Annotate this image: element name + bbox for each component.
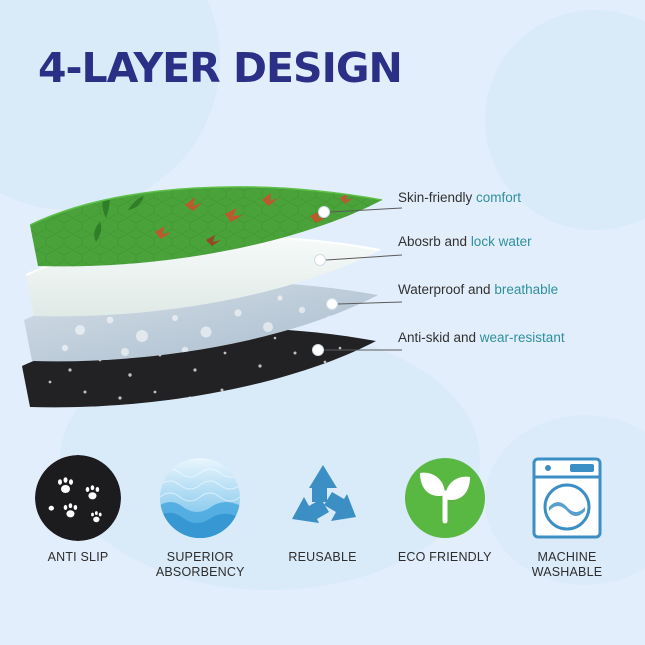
layer-callout-dot-4 — [313, 345, 324, 356]
layer-label-1: Skin-friendly comfort — [398, 190, 521, 205]
leaf-eco-icon — [402, 455, 488, 541]
layer-label-4-text: Anti-skid and — [398, 330, 480, 345]
layer-label-4: Anti-skid and wear-resistant — [398, 330, 565, 345]
layer-callout-dot-3 — [327, 299, 338, 310]
washing-machine-icon — [526, 455, 608, 541]
layer-label-1-text: Skin-friendly — [398, 190, 476, 205]
layer-label-2-highlight: lock water — [471, 234, 532, 249]
layer-callout-dot-2 — [315, 255, 326, 266]
layer-label-2-text: Abosrb and — [398, 234, 471, 249]
layer-label-2: Abosrb and lock water — [398, 234, 532, 249]
feature-icon-wrap — [509, 452, 625, 544]
feature-icon-wrap — [142, 452, 258, 544]
feature-item: ECO FRIENDLY — [387, 452, 503, 612]
feature-item: REUSABLE — [265, 452, 381, 612]
feature-row: ANTI SLIP — [0, 452, 645, 612]
paw-print-circle-icon — [35, 455, 121, 541]
layer-label-3-text: Waterproof and — [398, 282, 494, 297]
layer-label-1-highlight: comfort — [476, 190, 521, 205]
layer-label-3-highlight: breathable — [494, 282, 558, 297]
feature-item: ANTI SLIP — [20, 452, 136, 612]
feature-caption: MACHINE WASHABLE — [509, 550, 625, 580]
feature-icon-wrap — [387, 452, 503, 544]
feature-caption: SUPERIOR ABSORBENCY — [142, 550, 258, 580]
page-title: 4-LAYER DESIGN — [38, 44, 402, 92]
feature-item: SUPERIOR ABSORBENCY — [142, 452, 258, 612]
layer-label-3: Waterproof and breathable — [398, 282, 558, 297]
layer-diagram — [10, 170, 430, 440]
layer-stack-svg — [10, 170, 430, 440]
layer-callout-dot-1 — [319, 207, 330, 218]
feature-caption: ANTI SLIP — [20, 550, 136, 565]
layer-label-4-highlight: wear-resistant — [480, 330, 565, 345]
feature-caption: ECO FRIENDLY — [387, 550, 503, 565]
feature-icon-wrap — [20, 452, 136, 544]
layer-labels: Skin-friendly comfort Abosrb and lock wa… — [392, 190, 642, 380]
water-absorb-icon — [157, 455, 243, 541]
feature-caption: REUSABLE — [265, 550, 381, 565]
feature-item: MACHINE WASHABLE — [509, 452, 625, 612]
recycle-icon — [282, 457, 364, 539]
feature-icon-wrap — [265, 452, 381, 544]
